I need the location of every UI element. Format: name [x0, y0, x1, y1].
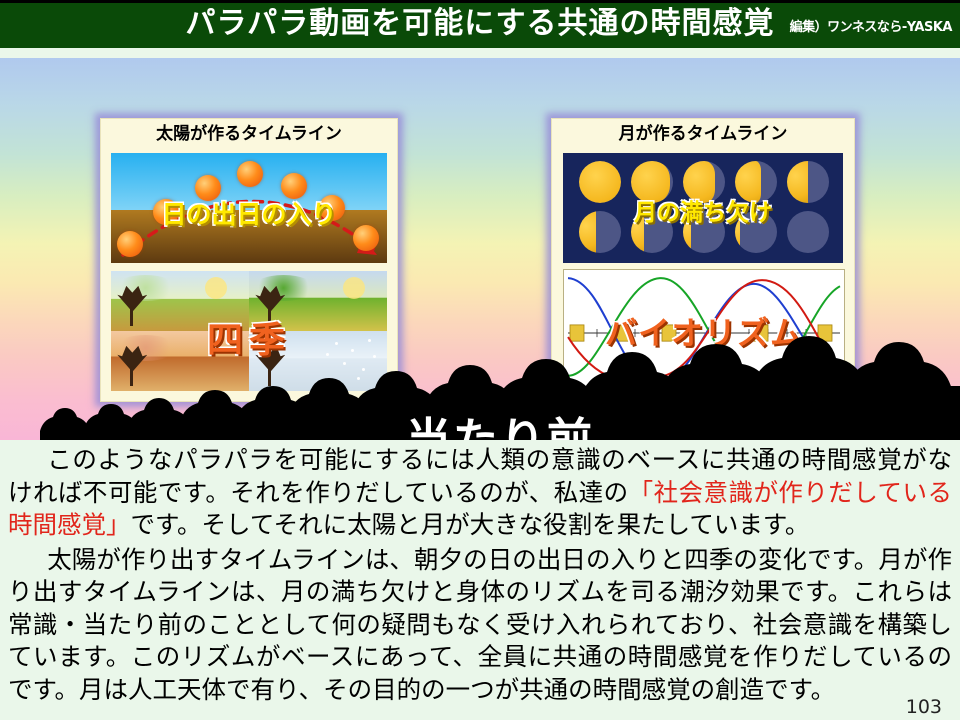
- sun-marker: [117, 231, 143, 257]
- sun-arc-icon: 日の出日の入り: [111, 153, 387, 263]
- sun-marker: [195, 175, 221, 201]
- moon-phase: [579, 211, 621, 253]
- sun-marker: [319, 195, 345, 221]
- illustration-stage: 太陽が作るタイムライン 日の出日の入り: [0, 48, 960, 440]
- moon-phase: [631, 211, 673, 253]
- moon-phase: [787, 161, 829, 203]
- moon-phase: [787, 211, 829, 253]
- moon-phase: [735, 161, 777, 203]
- moon-phase: [683, 211, 725, 253]
- slide-root: パラパラ動画を可能にする共通の時間感覚 編集）ワンネスなら-YASKA 太陽が作…: [0, 0, 960, 720]
- paragraph-1: このようなパラパラを可能にするには人類の意識のベースに共通の時間感覚がなければ不…: [8, 444, 952, 542]
- center-caption: 当たり前: [340, 403, 660, 440]
- title-bar: パラパラ動画を可能にする共通の時間感覚 編集）ワンネスなら-YASKA: [0, 0, 960, 48]
- body-text-area: このようなパラパラを可能にするには人類の意識のベースに共通の時間感覚がなければ不…: [0, 440, 960, 720]
- moon-panel-title: 月が作るタイムライン: [552, 119, 854, 149]
- moon-phase: [683, 161, 725, 203]
- stage-top-edge: [0, 48, 960, 58]
- paragraph-1-part-2: です。そしてそれに太陽と月が大きな役割を果たしています。: [131, 510, 810, 539]
- sun-panel-title: 太陽が作るタイムライン: [101, 119, 397, 149]
- moon-phase: [735, 211, 777, 253]
- moon-phase: [631, 161, 673, 203]
- paragraph-2: 太陽が作り出すタイムラインは、朝夕の日の出日の入りと四季の変化です。月が作り出す…: [8, 544, 952, 707]
- editor-credit: 編集）ワンネスなら-YASKA: [790, 16, 952, 35]
- moon-phases-icon: 月の満ち欠け: [563, 153, 843, 263]
- page-number: 103: [906, 696, 942, 718]
- sun-marker: [237, 161, 263, 187]
- sun-marker: [153, 199, 179, 225]
- moon-phase: [579, 161, 621, 203]
- sun-marker: [281, 173, 307, 199]
- sun-marker: [353, 225, 379, 251]
